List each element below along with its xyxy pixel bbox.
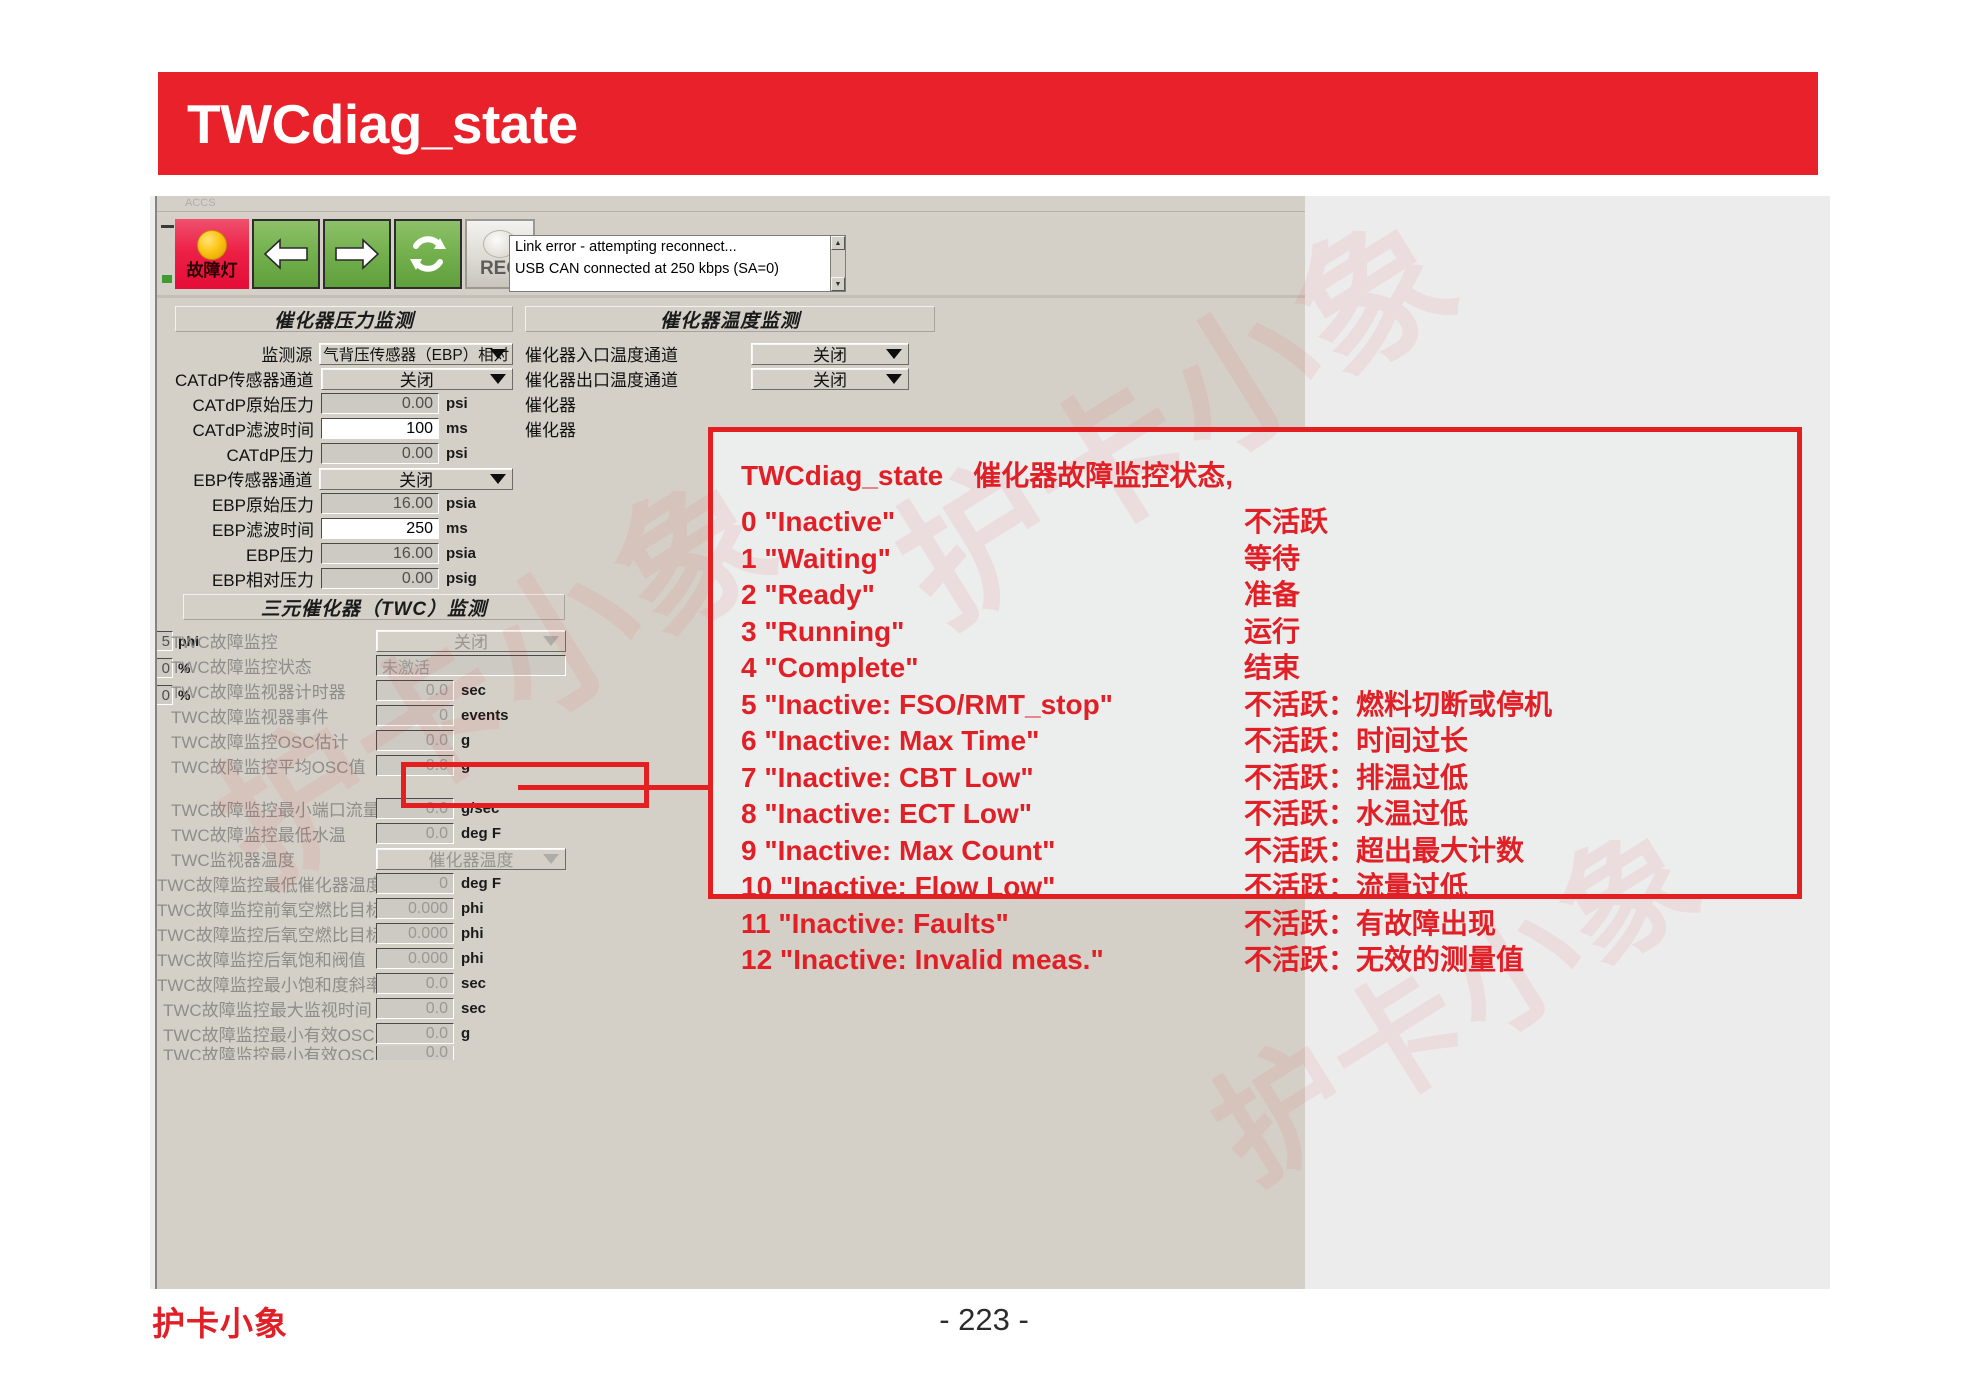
toolbar: 故障灯 [157, 213, 1305, 295]
forward-button[interactable] [323, 219, 391, 289]
row-label: CATdP滤波时间 [175, 416, 321, 441]
unit-label: psia [439, 545, 476, 562]
row-label: EBP原始压力 [175, 491, 321, 516]
state-code-label: 11 "Inactive: Faults" [741, 908, 1244, 940]
twc-monitor-events-field: 0 [376, 705, 454, 726]
status-message-line-2: USB CAN connected at 250 kbps (SA=0) [510, 258, 845, 280]
row-label: TWC故障监控最小有效OSC [163, 1046, 376, 1060]
row-cat-outlet-temp: 催化器出口温度通道 关闭 [525, 366, 945, 391]
row-label: TWC故障监控最低催化器温度 [157, 871, 376, 896]
row-label: 催化器入口温度通道 [525, 341, 751, 366]
state-translation-label: 不活跃：有故障出现 [1244, 902, 1496, 942]
callout-heading-en: TWCdiag_state [741, 460, 943, 492]
toolbar-separator [157, 295, 1305, 298]
window-title-bar: ACCS [157, 196, 1305, 212]
twc-min-coolant-temp-field: 0.0 [376, 823, 454, 844]
callout-row: 9 "Inactive: Max Count" 不活跃：超出最大计数 [741, 829, 1797, 866]
unit-label: psi [439, 395, 468, 412]
chevron-down-icon [490, 474, 506, 484]
mil-lamp-button[interactable]: 故障灯 [175, 219, 249, 289]
row-label: TWC故障监控最小饱和度斜率 [157, 971, 376, 996]
row-twc-monitor: TWC故障监控 关闭 [171, 628, 571, 653]
twc-osc-estimate-field: 0.0 [376, 730, 454, 751]
row-label: 催化器 [525, 391, 751, 416]
state-translation-label: 不活跃：流量过低 [1244, 865, 1468, 905]
twc-panel-title: 三元催化器（TWC）监测 [183, 594, 565, 620]
row-label: CATdP压力 [175, 441, 321, 466]
row-label: EBP相对压力 [175, 566, 321, 591]
refresh-button[interactable] [394, 219, 462, 289]
twc-min-valid-osc-field: 0.0 [376, 1023, 454, 1044]
row-twc-osc-estimate: TWC故障监控OSC估计 0.0 g [171, 728, 571, 753]
row-label: TWC故障监控前氧空燃比目标 [157, 896, 376, 921]
twc-monitor-temperature-combo[interactable]: 催化器温度 [376, 848, 566, 870]
state-legend-callout: TWCdiag_state 催化器故障监控状态, 0 "Inactive" 不活… [708, 427, 1802, 899]
twc-fault-monitor-combo[interactable]: 关闭 [376, 630, 566, 652]
catalyst-pressure-panel: 催化器压力监测 监测源 气背压传感器（EBP）相对 CATdP传感器通道 关闭 [175, 306, 513, 591]
state-code-label: 4 "Complete" [741, 652, 1244, 684]
toolbar-drag-handle[interactable] [159, 219, 175, 289]
row-ebp-channel: EBP传感器通道 关闭 [175, 466, 513, 491]
catalyst-temperature-panel: 催化器温度监测 催化器入口温度通道 关闭 催化器出口温度通道 关闭 [525, 306, 945, 441]
callout-row: 11 "Inactive: Faults" 不活跃：有故障出现 [741, 902, 1797, 939]
unit-label: sec [454, 1000, 486, 1017]
callout-row: 3 "Running" 运行 [741, 610, 1797, 647]
state-code-label: 6 "Inactive: Max Time" [741, 725, 1244, 757]
row-twc-min-valid-osc: TWC故障监控最小有效OSC 0.0 g [163, 1021, 571, 1046]
row-twc-min-saturation-slope: TWC故障监控最小饱和度斜率 0.0 sec [157, 971, 571, 996]
row-twc-post-o2-target: TWC故障监控后氧空燃比目标 0.000 phi [157, 921, 571, 946]
highlight-box-twc-state [401, 762, 649, 808]
mil-lamp-icon [197, 230, 227, 260]
row-label: TWC故障监控状态 [171, 653, 376, 678]
row-label: TWC故障监控最大监视时间 [163, 996, 376, 1021]
row-twc-monitor-state: TWC故障监控状态 未激活 [171, 653, 571, 678]
scroll-up-icon[interactable]: ▲ [831, 236, 845, 250]
status-message-list[interactable]: Link error - attempting reconnect... USB… [509, 235, 846, 292]
chevron-down-icon [490, 349, 506, 359]
callout-heading: TWCdiag_state 催化器故障监控状态, [741, 454, 1797, 494]
row-ebp-filter: EBP滤波时间 250 ms [175, 516, 513, 541]
combo-value: 催化器温度 [429, 846, 514, 871]
twc-max-monitor-time-field: 0.0 [376, 998, 454, 1019]
twc-post-o2-afr-target-field: 0.000 [376, 923, 454, 944]
row-ebp-gauge: EBP相对压力 0.00 psig [175, 566, 513, 591]
row-label: TWC故障监控后氧空燃比目标 [157, 921, 376, 946]
callout-row: 8 "Inactive: ECT Low" 不活跃：水温过低 [741, 792, 1797, 829]
state-translation-label: 准备 [1244, 573, 1300, 613]
unit-label: deg F [454, 825, 501, 842]
scroll-down-icon[interactable]: ▼ [831, 277, 845, 291]
twc-pre-o2-afr-target-field: 0.000 [376, 898, 454, 919]
row-twc-max-monitor-time: TWC故障监控最大监视时间 0.0 sec [163, 996, 571, 1021]
state-code-label: 2 "Ready" [741, 579, 1244, 611]
row-cat-inlet-temp: 催化器入口温度通道 关闭 [525, 341, 945, 366]
chevron-down-icon [490, 374, 506, 384]
row-twc-min-cat-temp: TWC故障监控最低催化器温度 0 deg F [157, 871, 571, 896]
callout-row: 12 "Inactive: Invalid meas." 不活跃：无效的测量值 [741, 938, 1797, 975]
unit-label: psia [439, 495, 476, 512]
ebp-raw-pressure-field: 16.00 [321, 493, 439, 514]
catdp-sensor-channel-combo[interactable]: 关闭 [321, 368, 513, 390]
row-label: TWC故障监控 [171, 628, 376, 653]
unit-label: phi [454, 950, 484, 967]
row-twc-pre-o2-target: TWC故障监控前氧空燃比目标 0.000 phi [157, 896, 571, 921]
row-label: TWC故障监控最小有效OSC [163, 1021, 376, 1046]
state-translation-label: 不活跃：水温过低 [1244, 792, 1468, 832]
back-button[interactable] [252, 219, 320, 289]
row-twc-min-coolant-temp: TWC故障监控最低水温 0.0 deg F [171, 821, 571, 846]
catalyst-outlet-temp-channel-combo[interactable]: 关闭 [751, 368, 909, 390]
row-label: TWC故障监控平均OSC值 [171, 753, 376, 778]
unit-label: deg F [454, 875, 501, 892]
catdp-pressure-field: 0.00 [321, 443, 439, 464]
row-monitor-source: 监测源 气背压传感器（EBP）相对 [175, 341, 513, 366]
twc-monitor-panel: 三元催化器（TWC）监测 TWC故障监控 关闭 TWC故障监控状态 未激活 TW… [171, 594, 571, 1060]
twc-min-cat-temp-field: 0 [376, 873, 454, 894]
combo-value: 关闭 [399, 466, 433, 491]
page-title: TWCdiag_state [158, 92, 578, 156]
callout-row: 7 "Inactive: CBT Low" 不活跃：排温过低 [741, 756, 1797, 793]
state-code-label: 12 "Inactive: Invalid meas." [741, 944, 1244, 976]
ebp-filter-time-input[interactable]: 250 [321, 518, 439, 539]
pressure-panel-title: 催化器压力监测 [175, 306, 513, 332]
chevron-down-icon [543, 854, 559, 864]
refresh-icon [406, 233, 450, 275]
chevron-down-icon [886, 349, 902, 359]
ebp-gauge-pressure-field: 0.00 [321, 568, 439, 589]
twc-cut-off-field: 0.0 [376, 1046, 454, 1060]
unit-label: g [454, 1025, 470, 1042]
title-banner: TWCdiag_state [158, 72, 1818, 175]
callout-row: 2 "Ready" 准备 [741, 573, 1797, 610]
state-code-label: 0 "Inactive" [741, 506, 1244, 538]
combo-value: 气背压传感器（EBP）相对 [323, 343, 509, 365]
callout-row: 6 "Inactive: Max Time" 不活跃：时间过长 [741, 719, 1797, 756]
state-translation-label: 结束 [1244, 646, 1300, 686]
twc-min-saturation-slope-field: 0.0 [376, 973, 454, 994]
callout-row: 4 "Complete" 结束 [741, 646, 1797, 683]
state-code-label: 9 "Inactive: Max Count" [741, 835, 1244, 867]
twc-post-o2-saturation-threshold-field: 0.000 [376, 948, 454, 969]
monitor-source-combo[interactable]: 气背压传感器（EBP）相对 [319, 343, 513, 365]
row-label: EBP滤波时间 [175, 516, 321, 541]
callout-heading-zh: 催化器故障监控状态, [943, 454, 1233, 494]
row-twc-timer: TWC故障监视器计时器 0.0 sec [171, 678, 571, 703]
callout-row: 10 "Inactive: Flow Low" 不活跃：流量过低 [741, 865, 1797, 902]
row-label: TWC故障监控后氧饱和阀值 [157, 946, 376, 971]
row-catdp-channel: CATdP传感器通道 关闭 [175, 366, 513, 391]
unit-label: psi [439, 445, 468, 462]
row-label: 催化器出口温度通道 [525, 366, 751, 391]
catalyst-inlet-temp-channel-combo[interactable]: 关闭 [751, 343, 909, 365]
footer-page-number: - 223 - [0, 1302, 1968, 1338]
state-code-label: 7 "Inactive: CBT Low" [741, 762, 1244, 794]
state-code-label: 10 "Inactive: Flow Low" [741, 871, 1244, 903]
row-label: TWC故障监控OSC估计 [171, 728, 376, 753]
row-catdp-raw: CATdP原始压力 0.00 psi [175, 391, 513, 416]
slide-page: TWCdiag_state ACCS 故障灯 [0, 0, 1968, 1386]
row-twc-monitor-temp-source: TWC监视器温度 催化器温度 [171, 846, 571, 871]
temperature-panel-title: 催化器温度监测 [525, 306, 935, 332]
unit-label: psig [439, 570, 477, 587]
row-ebp-pressure: EBP压力 16.00 psia [175, 541, 513, 566]
grip-line [161, 225, 174, 228]
unit-label: phi [454, 900, 484, 917]
unit-label: events [454, 707, 509, 724]
combo-value: 关闭 [400, 366, 434, 391]
status-message-line-1: Link error - attempting reconnect... [510, 236, 845, 258]
row-twc-events: TWC故障监视器事件 0 events [171, 703, 571, 728]
row-twc-cut-off: TWC故障监控最小有效OSC 0.0 [163, 1046, 571, 1060]
state-code-label: 1 "Waiting" [741, 543, 1244, 575]
ebp-pressure-field: 16.00 [321, 543, 439, 564]
state-translation-label: 不活跃：无效的测量值 [1244, 938, 1524, 978]
row-ebp-raw: EBP原始压力 16.00 psia [175, 491, 513, 516]
grip-line-green [162, 275, 172, 283]
row-label: 监测源 [175, 341, 319, 366]
chevron-down-icon [886, 374, 902, 384]
row-label: TWC故障监控最小端口流量 [171, 796, 376, 821]
mil-lamp-label: 故障灯 [187, 262, 238, 279]
message-scrollbar[interactable]: ▲ ▼ [830, 236, 845, 291]
unit-label: phi [454, 925, 484, 942]
state-translation-label: 不活跃：排温过低 [1244, 756, 1468, 796]
state-translation-label: 不活跃 [1244, 500, 1328, 540]
twc-monitor-timer-field: 0.0 [376, 680, 454, 701]
unit-label: ms [439, 520, 468, 537]
row-label: CATdP原始压力 [175, 391, 321, 416]
row-label: CATdP传感器通道 [175, 366, 321, 391]
combo-value: 关闭 [813, 341, 847, 366]
callout-row: 0 "Inactive" 不活跃 [741, 500, 1797, 537]
arrow-right-icon [334, 237, 380, 271]
row-label: TWC故障监视器计时器 [171, 678, 376, 703]
twc-fault-monitor-state-field: 未激活 [376, 655, 566, 676]
state-code-label: 5 "Inactive: FSO/RMT_stop" [741, 689, 1244, 721]
row-catdp-filter: CATdP滤波时间 100 ms [175, 416, 513, 441]
state-translation-label: 等待 [1244, 537, 1300, 577]
row-label: TWC监视器温度 [171, 846, 376, 871]
row-label: EBP传感器通道 [175, 466, 319, 491]
callout-row: 5 "Inactive: FSO/RMT_stop" 不活跃：燃料切断或停机 [741, 683, 1797, 720]
window-caption: ACCS [185, 197, 216, 209]
row-label: TWC故障监视器事件 [171, 703, 376, 728]
state-translation-label: 不活跃：燃料切断或停机 [1244, 683, 1552, 723]
callout-row-list: 0 "Inactive" 不活跃 1 "Waiting" 等待 2 "Ready… [741, 500, 1797, 975]
state-code-label: 8 "Inactive: ECT Low" [741, 798, 1244, 830]
state-translation-label: 不活跃：超出最大计数 [1244, 829, 1524, 869]
arrow-left-icon [263, 237, 309, 271]
row-twc-post-o2-saturation: TWC故障监控后氧饱和阀值 0.000 phi [157, 946, 571, 971]
callout-row: 1 "Waiting" 等待 [741, 537, 1797, 574]
unit-label: ms [439, 420, 468, 437]
chevron-down-icon [543, 636, 559, 646]
state-code-label: 3 "Running" [741, 616, 1244, 648]
catdp-filter-time-input[interactable]: 100 [321, 418, 439, 439]
state-translation-label: 运行 [1244, 610, 1300, 650]
state-translation-label: 不活跃：时间过长 [1244, 719, 1468, 759]
combo-value: 关闭 [813, 366, 847, 391]
unit-label: sec [454, 682, 486, 699]
row-catdp-pressure: CATdP压力 0.00 psi [175, 441, 513, 466]
combo-value: 关闭 [454, 628, 488, 653]
unit-label: sec [454, 975, 486, 992]
unit-label: g [454, 732, 470, 749]
row-cat-occluded-1: 催化器 [525, 391, 945, 416]
row-label: TWC故障监控最低水温 [171, 821, 376, 846]
row-label: EBP压力 [175, 541, 321, 566]
catdp-raw-pressure-field: 0.00 [321, 393, 439, 414]
ebp-sensor-channel-combo[interactable]: 关闭 [319, 468, 513, 490]
